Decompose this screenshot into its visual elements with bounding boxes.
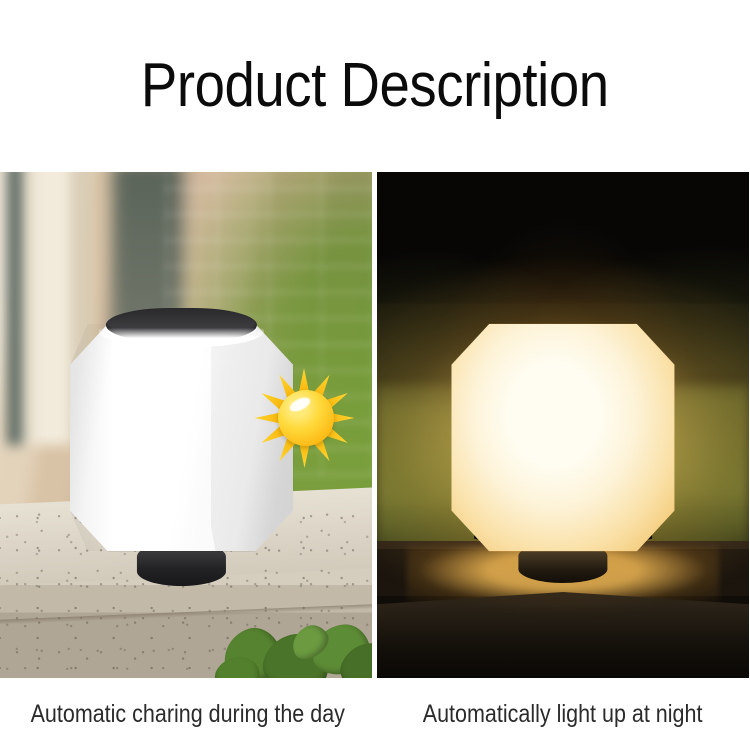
day-caption-cell: Automatic charing during the day: [0, 678, 375, 750]
sun-icon: [252, 368, 356, 468]
page-title-bar: Product Description: [0, 0, 750, 172]
night-post-face: [377, 592, 749, 678]
caption-row: Automatic charing during the day Automat…: [0, 678, 750, 750]
lamp-shade-illuminated: [451, 324, 674, 552]
night-caption: Automatically light up at night: [423, 700, 703, 729]
lamp-shade-left-facet: [70, 324, 115, 552]
night-photo: [377, 172, 749, 678]
solar-lamp-night: [451, 324, 674, 552]
sun-ray: [254, 413, 280, 424]
photo-comparison-row: [0, 172, 750, 678]
day-photo: [0, 172, 372, 678]
night-caption-cell: Automatically light up at night: [375, 678, 750, 750]
foliage-leaves: [216, 587, 372, 678]
page-title: Product Description: [141, 55, 609, 117]
product-description-page: Product Description: [0, 0, 750, 750]
day-caption: Automatic charing during the day: [30, 700, 344, 729]
solar-panel-rim: [99, 315, 264, 347]
